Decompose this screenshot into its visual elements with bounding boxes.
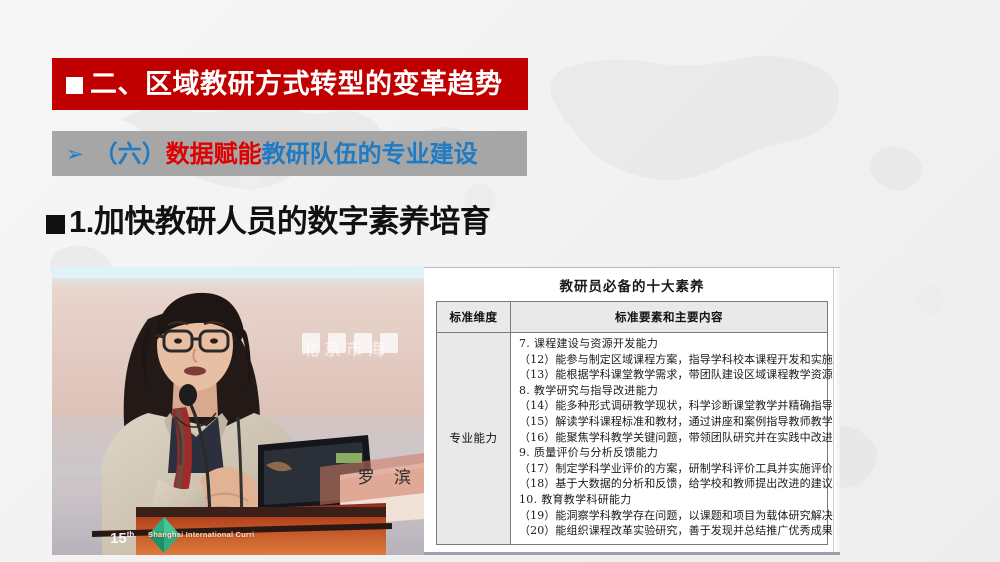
column-header-content: 标准要素和主要内容 — [511, 302, 828, 333]
content-heading: 1.加快教研人员的数字素养培育 — [46, 206, 490, 239]
list-item: （12）能参与制定区域课程方案，指导学科校本课程开发和实施。 — [519, 352, 823, 368]
square-bullet-icon — [46, 215, 65, 234]
square-bullet-icon — [66, 77, 83, 94]
section-title-bar: 二、区域教研方式转型的变革趋势 — [52, 58, 528, 110]
competency-table: 标准维度 标准要素和主要内容 专业能力 7. 课程建设与资源开发能力 （12）能… — [436, 301, 828, 545]
subsection-title-bar: ➢ （六）数据赋能教研队伍的专业建设 — [52, 131, 527, 176]
column-header-dimension: 标准维度 — [437, 302, 511, 333]
row-content-cell: 7. 课程建设与资源开发能力 （12）能参与制定区域课程方案，指导学科校本课程开… — [511, 333, 828, 545]
table-header-row: 标准维度 标准要素和主要内容 — [437, 302, 828, 333]
panel-scroll-strip[interactable] — [833, 268, 840, 552]
competency-table-panel: 教研员必备的十大素养 标准维度 标准要素和主要内容 专业能力 7. 课程建设与资… — [424, 267, 840, 555]
content-heading-text: 1.加快教研人员的数字素养培育 — [69, 206, 490, 239]
podium-edition-number: 15th — [110, 530, 134, 547]
slide-canvas: 二、区域教研方式转型的变革趋势 ➢ （六）数据赋能教研队伍的专业建设 1.加快教… — [0, 0, 1000, 562]
conference-speaker-photo: 北京市海 罗 滨 15th Shanghai International Cur… — [52, 267, 424, 555]
subsection-suffix: 教研队伍的专业建设 — [262, 139, 478, 168]
speaker-nameplate-text: 罗 滨 — [358, 463, 418, 488]
projection-screen-text: 北京市海 — [302, 335, 390, 360]
list-item-highlighted: （18）基于大数据的分析和反馈，给学校和教师提出改进的建议。 — [519, 476, 823, 492]
podium-banner-text: Shanghai International Curri — [148, 530, 254, 539]
list-item: （20）能组织课程改革实验研究，善于发现并总结推广优秀成果。 — [519, 523, 823, 539]
list-item: 7. 课程建设与资源开发能力 — [519, 336, 823, 352]
arrow-bullet-icon: ➢ — [66, 144, 84, 165]
list-item: 9. 质量评价与分析反馈能力 — [519, 445, 823, 461]
list-item: （15）解读学科课程标准和教材，通过讲座和案例指导教师教学。 — [519, 414, 823, 430]
table-title: 教研员必备的十大素养 — [424, 268, 840, 301]
podium-edition-suffix: th — [127, 530, 135, 539]
photo-illustration — [52, 267, 424, 555]
list-item: 8. 教学研究与指导改进能力 — [519, 383, 823, 399]
podium-edition-value: 15 — [110, 530, 127, 547]
subsection-title-text: （六）数据赋能教研队伍的专业建设 — [94, 142, 478, 166]
list-item: （19）能洞察学科教学存在问题，以课题和项目为载体研究解决。 — [519, 508, 823, 524]
subsection-prefix: （六） — [94, 139, 166, 168]
table-row: 专业能力 7. 课程建设与资源开发能力 （12）能参与制定区域课程方案，指导学科… — [437, 333, 828, 545]
list-item: （14）能多种形式调研教学现状，科学诊断课堂教学并精确指导。 — [519, 398, 823, 414]
row-dimension-label: 专业能力 — [437, 333, 511, 545]
list-item: （16）能聚焦学科教学关键问题，带领团队研究并在实践中改进。 — [519, 430, 823, 446]
list-item: （13）能根据学科课堂教学需求，带团队建设区域课程教学资源。 — [519, 367, 823, 383]
subsection-emphasis: 数据赋能 — [166, 139, 262, 168]
list-item: 10. 教育教学科研能力 — [519, 492, 823, 508]
section-title-text: 二、区域教研方式转型的变革趋势 — [90, 71, 503, 98]
list-item: （17）制定学科学业评价的方案，研制学科评价工具并实施评价。 — [519, 461, 823, 477]
